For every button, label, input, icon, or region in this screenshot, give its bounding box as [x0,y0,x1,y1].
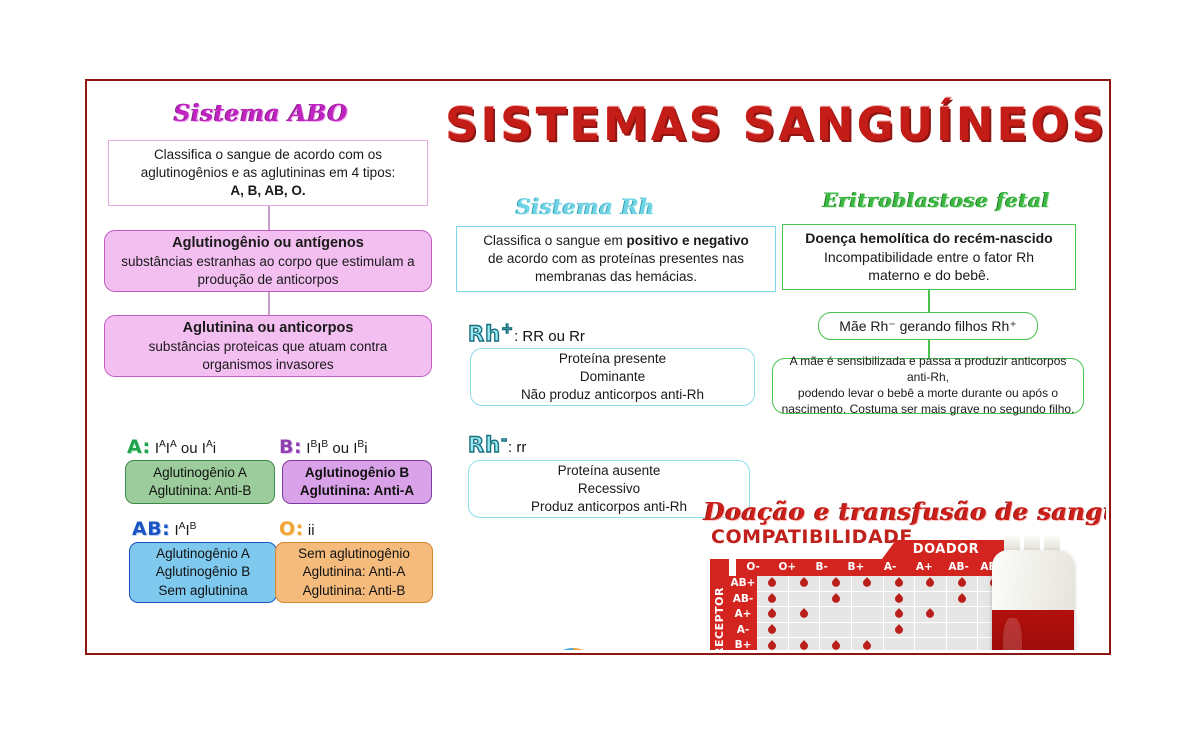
compatibility-cell [884,607,916,623]
blood-drop-icon [893,593,904,604]
blood-drop-icon [893,577,904,588]
rh-intro-line2: de acordo com as proteínas presentes nas [488,250,744,268]
abo-type-b-line2: Aglutinina: Anti-A [300,482,414,500]
eritro-box3-line3: nascimento. Costuma ser mais grave no se… [782,402,1075,418]
compatibility-cell [915,592,947,608]
eritro-box1-line2: materno e do bebê. [868,266,989,284]
compatibility-row-headers: AB+AB-A+A-B+B-O+O- [729,576,757,650]
compatibility-cell [884,623,916,639]
receptor-row-header: AB- [729,592,757,608]
compatibility-cell [852,638,884,650]
abo-type-ab-line1: Aglutinogênio A [156,545,250,563]
receptor-row-header: B+ [729,638,757,650]
compatibility-cell [789,638,821,650]
rh-negative-line1: Proteína ausente [558,462,661,480]
abo-antibody-title: Aglutinina ou anticorpos [183,319,354,338]
table-row [757,592,1010,608]
blood-drop-icon [767,577,778,588]
abo-intro-line1: Classifica o sangue de acordo com os [154,146,382,164]
blood-drop-icon [893,609,904,620]
blood-drop-icon [830,593,841,604]
bag-blood-fill [992,610,1074,650]
compatibility-cell [915,607,947,623]
rh-intro-box: Classifica o sangue em positivo e negati… [456,226,776,292]
compatibility-column-headers: O-O+B-B+A-A+AB-AB+ [736,559,1010,576]
blood-drop-icon [830,640,841,650]
eritro-box-3: A mãe é sensibilizada e passa a produzir… [772,358,1084,414]
compatibility-cell [820,592,852,608]
section-heading-doacao: Doação e transfusão de sangue [704,497,1106,526]
table-row [757,623,1010,639]
compatibility-cell [947,607,979,623]
abo-type-a-genotype: IAIA ou IAi [155,440,216,457]
blood-drop-icon [862,640,873,650]
abo-type-ab-genotype: IAIB [174,522,196,539]
abo-type-ab-letter: AB: [132,518,170,540]
rh-positive-label: Rh+: RR ou Rr [468,321,585,346]
compatibility-matrix [757,576,1010,650]
blood-drop-icon [798,609,809,620]
abo-type-ab-card: Aglutinogênio A Aglutinogênio B Sem aglu… [129,542,277,603]
blood-drop-icon [830,577,841,588]
bag-body [992,550,1074,650]
compatibility-cell [757,607,789,623]
abo-type-o-line1: Sem aglutinogênio [298,545,410,563]
blood-drop-icon [925,577,936,588]
connector-eritro-1 [928,290,930,312]
eritro-box-1: Doença hemolítica do recém-nascido Incom… [782,224,1076,290]
rh-positive-line2: Dominante [580,368,645,386]
compatibility-cell [820,607,852,623]
connector-abo-1 [268,206,270,230]
abo-type-a-line2: Aglutinina: Anti-B [149,482,252,500]
compatibility-cell [820,576,852,592]
abo-antigen-line2: produção de anticorpos [197,271,338,289]
compatibility-cell [884,592,916,608]
compatibility-cell [884,638,916,650]
abo-type-o-genotype: ii [308,522,315,539]
connector-abo-2 [268,292,270,315]
compatibility-cell [947,638,979,650]
rh-negative-label: Rh-: rr [468,432,526,457]
compatibility-cell [820,638,852,650]
blood-drop-icon [956,577,967,588]
eritro-box3-line1: A mãe é sensibilizada e passa a produzir… [779,354,1077,386]
abo-intro-line2: aglutinogênios e as aglutininas em 4 tip… [141,164,395,182]
compatibility-cell [852,592,884,608]
compatibility-cell [789,607,821,623]
abo-antibody-line1: substâncias proteicas que atuam contra [149,338,388,356]
abo-type-o-label: O: ii [279,518,315,540]
eritro-box1-line1: Incompatibilidade entre o fator Rh [824,248,1034,266]
abo-type-b-letter: B: [279,436,302,458]
compatibility-cell [915,576,947,592]
abo-type-a-letter: A: [127,436,151,458]
compatibility-cell [789,623,821,639]
donor-column-header: AB- [942,559,976,576]
abo-antigen-box: Aglutinogênio ou antígenos substâncias e… [104,230,432,292]
blood-drop-icon [767,609,778,620]
compatibility-cell [789,592,821,608]
receptor-row-header: A- [729,623,757,639]
blood-drop-icon [925,609,936,620]
rh-positive-line3: Não produz anticorpos anti-Rh [521,386,704,404]
abo-type-a-card: Aglutinogênio A Aglutinina: Anti-B [125,460,275,504]
compatibility-title: COMPATIBILIDADE [711,526,913,548]
abo-type-b-genotype: IBIB ou IBi [306,440,367,457]
compatibility-cell [852,607,884,623]
abo-type-o-letter: O: [279,518,304,540]
blood-drop-icon [767,593,778,604]
rh-intro-line1: Classifica o sangue em positivo e negati… [483,232,749,250]
logo-mark-icon [545,648,601,650]
abo-type-o-line2: Aglutinina: Anti-A [303,563,406,581]
table-row [757,576,1010,592]
donor-column-header: A+ [907,559,941,576]
eritro-box1-title: Doença hemolítica do recém-nascido [805,229,1052,247]
receptor-label: RECEPTOR [713,570,726,650]
abo-type-ab-line3: Sem aglutinina [158,582,247,600]
rh-negative-line2: Recessivo [578,480,640,498]
blood-drop-icon [862,577,873,588]
receptor-row-header: AB+ [729,576,757,592]
section-heading-rh: Sistema Rh [516,194,655,219]
abo-type-ab-line2: Aglutinogênio B [156,563,251,581]
compatibility-cell [789,576,821,592]
donor-column-header: O- [736,559,770,576]
abo-intro-box: Classifica o sangue de acordo com os agl… [108,140,428,206]
abo-antigen-title: Aglutinogênio ou antígenos [172,234,364,253]
donor-column-header: B- [805,559,839,576]
abo-antibody-box: Aglutinina ou anticorpos substâncias pro… [104,315,432,377]
eritro-box2-text: Mãe Rh⁻ gerando filhos Rh⁺ [839,317,1016,335]
blood-drop-icon [956,593,967,604]
blood-drop-icon [767,624,778,635]
blood-drop-icon [893,624,904,635]
abo-antibody-line2: organismos invasores [202,356,333,374]
compatibility-cell [757,592,789,608]
compatibility-cell [757,623,789,639]
donor-column-header: B+ [839,559,873,576]
abo-intro-line3: A, B, AB, O. [230,182,305,200]
abo-type-a-label: A: IAIA ou IAi [127,436,216,458]
poster-canvas: SISTEMAS SANGUÍNEOS Sistema ABO Classifi… [90,84,1106,650]
compatibility-cell [947,623,979,639]
page-title: SISTEMAS SANGUÍNEOS [445,98,1085,151]
compatibility-cell [947,592,979,608]
rh-negative-symbol: Rh- [468,433,508,457]
rh-positive-box: Proteína presente Dominante Não produz a… [470,348,755,406]
rh-positive-line1: Proteína presente [559,350,666,368]
abo-type-o-line3: Aglutinina: Anti-B [303,582,406,600]
abo-type-o-card: Sem aglutinogênio Aglutinina: Anti-A Agl… [275,542,433,603]
table-row [757,607,1010,623]
rh-negative-genotypes: : rr [508,439,526,456]
compatibility-cell [757,638,789,650]
donor-column-header: A- [873,559,907,576]
eritro-box3-line2: podendo levar o bebê a morte durante ou … [798,386,1058,402]
abo-type-b-line1: Aglutinogênio B [305,464,409,482]
compatibility-cell [915,623,947,639]
receptor-tab: RECEPTOR [710,559,729,650]
rh-intro-line3: membranas das hemácias. [535,268,697,286]
compatibility-cell [757,576,789,592]
abo-type-a-line1: Aglutinogênio A [153,464,247,482]
blood-drop-icon [767,640,778,650]
table-row [757,638,1010,650]
donor-column-header: O+ [770,559,804,576]
blood-bag-icon [988,536,1078,650]
compatibility-cell [820,623,852,639]
blood-drop-icon [798,577,809,588]
compatibility-cell [915,638,947,650]
compatibility-cell [884,576,916,592]
section-heading-eritroblastose: Eritroblastose fetal [823,188,1050,212]
abo-type-b-label: B: IBIB ou IBi [279,436,368,458]
abo-antigen-line1: substâncias estranhas ao corpo que estim… [121,253,414,271]
rh-negative-line3: Produz anticorpos anti-Rh [531,498,687,516]
compatibility-cell [947,576,979,592]
section-heading-abo: Sistema ABO [174,100,348,127]
compatibility-cell [852,623,884,639]
receptor-row-header: A+ [729,607,757,623]
blood-drop-icon [798,640,809,650]
abo-type-b-card: Aglutinogênio B Aglutinina: Anti-A [282,460,432,504]
abo-type-ab-label: AB: IAIB [132,518,196,540]
eritro-box-2: Mãe Rh⁻ gerando filhos Rh⁺ [818,312,1038,340]
rh-positive-symbol: Rh+ [468,322,514,346]
compatibility-cell [852,576,884,592]
rh-positive-genotypes: : RR ou Rr [514,328,585,345]
